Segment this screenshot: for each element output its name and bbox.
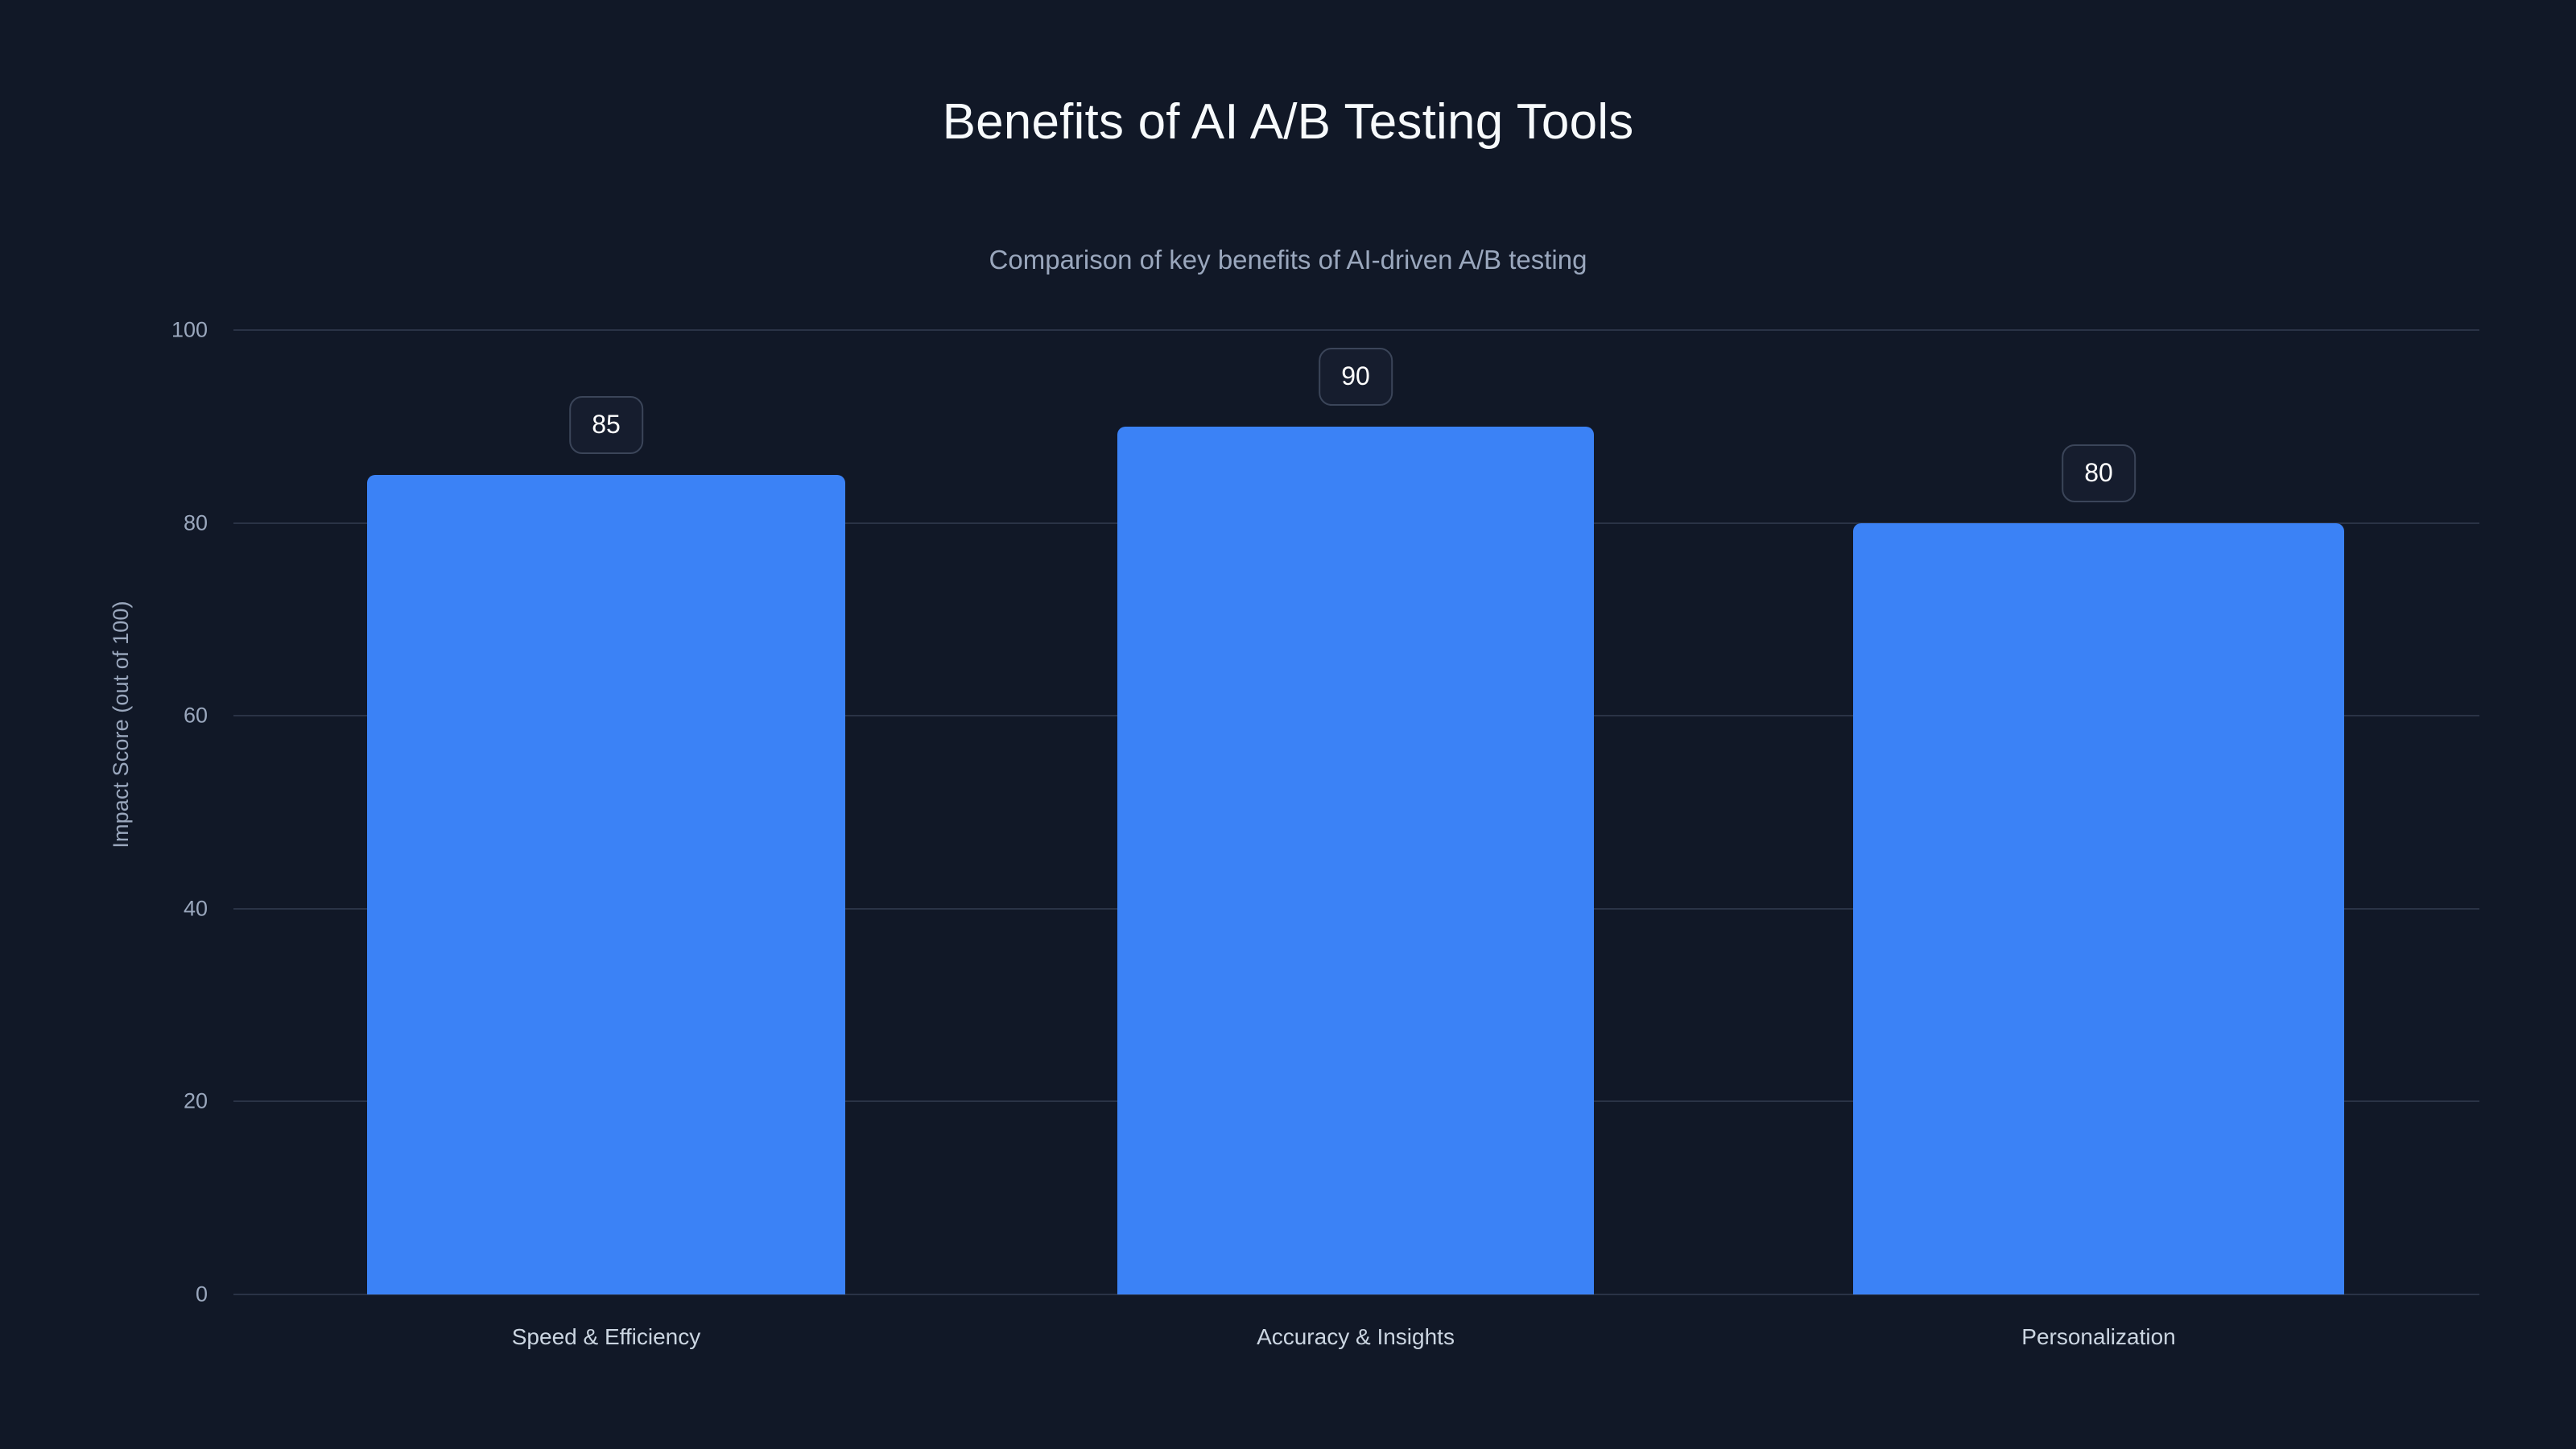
x-axis-tick-label: Accuracy & Insights [1257,1324,1455,1350]
y-axis-tick-label: 100 [171,318,208,343]
gridline [233,329,2479,331]
x-axis-tick-label: Speed & Efficiency [512,1324,701,1350]
x-axis-tick-label: Personalization [2021,1324,2175,1350]
bar-value-badge: 85 [569,396,643,454]
bar[interactable] [1117,427,1594,1294]
bar[interactable] [1853,523,2344,1294]
plot-area [233,330,2479,1294]
y-axis-tick-label: 40 [184,896,208,921]
y-axis-tick-label: 20 [184,1089,208,1114]
y-axis-tick-label: 80 [184,510,208,535]
bar-value-badge: 80 [2062,444,2136,502]
y-axis-tick-label: 0 [196,1282,208,1307]
y-axis-tick-label: 60 [184,704,208,729]
bar-value-badge: 90 [1319,348,1393,406]
chart-title: Benefits of AI A/B Testing Tools [0,95,2576,150]
bar-chart: Benefits of AI A/B Testing Tools Compari… [0,0,2576,1449]
y-axis-tick-labels: 020406080100 [0,330,211,1294]
bar[interactable] [367,475,845,1294]
chart-subtitle: Comparison of key benefits of AI-driven … [0,244,2576,276]
